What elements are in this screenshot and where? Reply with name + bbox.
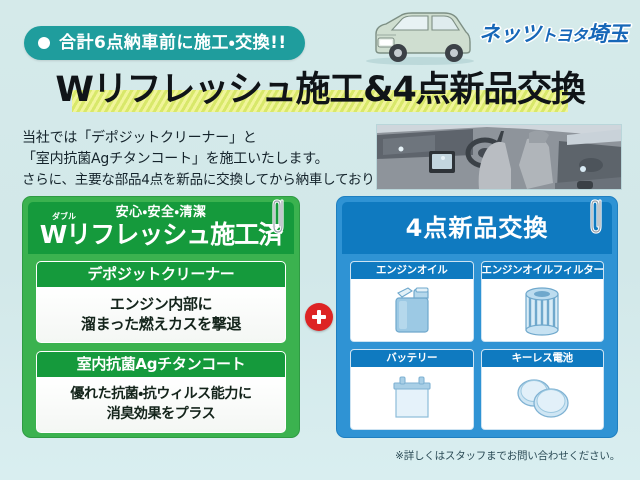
advertisement-page: 合計6点納車前に施工・交換!! ネッツトヨタ埼玉 Wリフレッシュ施工&4点新品交… bbox=[0, 0, 640, 480]
green-card-body-line-2: 消臭効果をプラス bbox=[41, 404, 281, 424]
green-panel-title: Wリフレッシュ施工済 bbox=[40, 220, 283, 249]
blue-panel: 4点新品交換 エンジンオイル bbox=[336, 196, 618, 438]
parts-tile-keyless-battery: キーレス電池 bbox=[481, 349, 605, 430]
main-title-wrap: Wリフレッシュ施工&4点新品交換 bbox=[0, 66, 640, 114]
parts-tile-body bbox=[351, 279, 473, 341]
page-title: Wリフレッシュ施工&4点新品交換 bbox=[49, 73, 590, 108]
compact-car-icon bbox=[356, 4, 484, 68]
paperclip-icon bbox=[588, 196, 606, 236]
parts-tile-label: バッテリー bbox=[351, 350, 473, 367]
green-panel-title-wrap: ダブル Wリフレッシュ施工済 bbox=[28, 220, 294, 250]
parts-tile-engine-oil: エンジンオイル bbox=[350, 261, 474, 342]
green-card-ag-titanium-coat: 室内抗菌Agチタンコート 優れた抗菌・抗ウィルス能力に 消臭効果をプラス bbox=[36, 351, 286, 433]
brand-logo-main: ネッツ bbox=[479, 22, 541, 46]
parts-tile-label: エンジンオイル bbox=[351, 262, 473, 279]
car-battery-icon bbox=[386, 373, 438, 423]
oil-filter-icon bbox=[517, 284, 567, 336]
green-card-heading: 室内抗菌Agチタンコート bbox=[37, 352, 285, 377]
parts-tile-label: キーレス電池 bbox=[482, 350, 604, 367]
parts-grid: エンジンオイル エンジンオイルフィルター bbox=[350, 261, 604, 430]
green-card-heading: デポジットクリーナー bbox=[37, 262, 285, 287]
description-line-1: 当社では「デポジットクリーナー」と bbox=[22, 128, 382, 149]
bullet-dot-icon bbox=[38, 37, 50, 49]
description-line-2: 「室内抗菌Agチタンコート」を施工いたします。 bbox=[22, 149, 382, 170]
green-card-body: 優れた抗菌・抗ウィルス能力に 消臭効果をプラス bbox=[37, 377, 285, 432]
brand-logo: ネッツトヨタ埼玉 bbox=[479, 18, 628, 48]
blue-panel-title: 4点新品交換 bbox=[342, 202, 612, 254]
oil-jug-icon bbox=[384, 284, 440, 336]
blue-panel-header: 4点新品交換 bbox=[342, 202, 612, 254]
blue-panel-body: エンジンオイル エンジンオイルフィルター bbox=[342, 254, 612, 438]
car-interior-photo bbox=[376, 124, 622, 190]
header-badge-label: 合計6点納車前に施工・交換!! bbox=[59, 35, 287, 52]
green-panel: 安心・安全・清潔 ダブル Wリフレッシュ施工済 デポジットクリーナー エンジン内… bbox=[22, 196, 300, 438]
green-panel-header: 安心・安全・清潔 ダブル Wリフレッシュ施工済 bbox=[28, 202, 294, 254]
green-panel-body: デポジットクリーナー エンジン内部に 溜まった燃えカスを撃退 室内抗菌Agチタン… bbox=[28, 254, 294, 449]
green-panel-ruby: ダブル bbox=[52, 213, 76, 221]
green-card-deposit-cleaner: デポジットクリーナー エンジン内部に 溜まった燃えカスを撃退 bbox=[36, 261, 286, 343]
parts-tile-body bbox=[351, 367, 473, 429]
plus-badge-icon bbox=[305, 303, 333, 331]
footnote: ※詳しくはスタッフまでお問い合わせください。 bbox=[395, 448, 620, 463]
parts-tile-body bbox=[482, 279, 604, 341]
green-card-body-line-1: エンジン内部に bbox=[41, 294, 281, 314]
parts-tile-battery: バッテリー bbox=[350, 349, 474, 430]
green-card-body: エンジン内部に 溜まった燃えカスを撃退 bbox=[37, 287, 285, 342]
description-line-3: さらに、主要な部品4点を新品に交換してから納車しております! bbox=[22, 170, 382, 191]
header-badge: 合計6点納車前に施工・交換!! bbox=[24, 26, 305, 60]
parts-tile-oil-filter: エンジンオイルフィルター bbox=[481, 261, 605, 342]
brand-logo-tail: 埼玉 bbox=[587, 22, 628, 46]
brand-logo-small: トヨタ bbox=[540, 26, 587, 45]
description-block: 当社では「デポジットクリーナー」と 「室内抗菌Agチタンコート」を施工いたします… bbox=[22, 128, 382, 191]
parts-tile-label: エンジンオイルフィルター bbox=[482, 262, 604, 279]
parts-tile-body bbox=[482, 367, 604, 429]
paperclip-icon bbox=[270, 196, 288, 236]
coin-battery-icon bbox=[511, 375, 573, 421]
green-card-body-line-2: 溜まった燃えカスを撃退 bbox=[41, 314, 281, 334]
header: 合計6点納車前に施工・交換!! ネッツトヨタ埼玉 Wリフレッシュ施工&4点新品交… bbox=[0, 0, 640, 120]
green-card-body-line-1: 優れた抗菌・抗ウィルス能力に bbox=[41, 384, 281, 404]
